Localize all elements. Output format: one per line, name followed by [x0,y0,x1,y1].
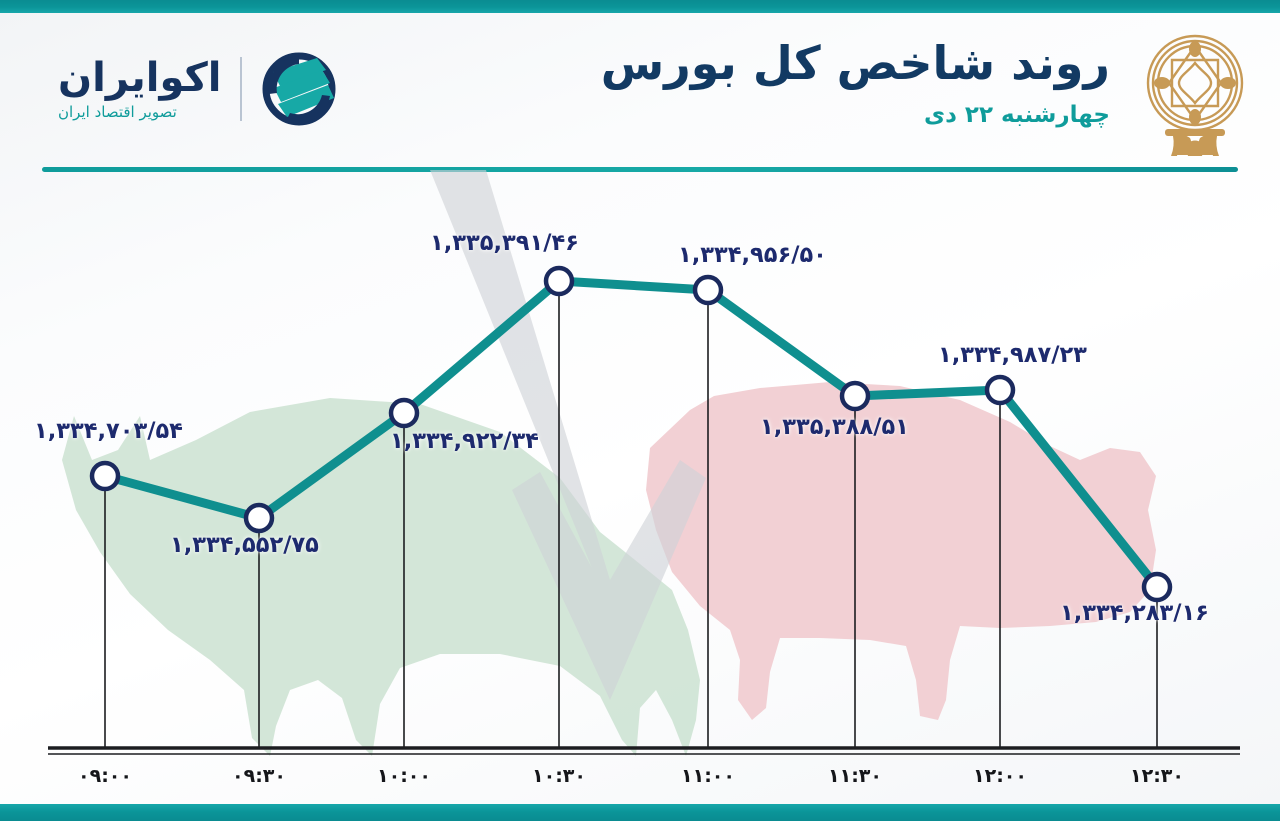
line-chart: ۱,۳۳۴,۷۰۳/۵۴ ۱,۳۳۴,۵۵۲/۷۵ ۱,۳۳۴,۹۲۲/۳۴ ۱… [0,160,1280,805]
brand-name: اکوایران [58,58,222,98]
data-point-marker[interactable] [546,268,572,294]
x-tick: ۱۰:۳۰ [532,765,586,787]
brand-logo[interactable]: اکوایران تصویر اقتصاد ایران [58,43,358,135]
x-axis [48,748,1240,754]
title-block: روند شاخص کل بورس چهارشنبه ۲۲ دی [510,37,1110,128]
data-point-marker[interactable] [92,463,118,489]
brand-logo-text: اکوایران تصویر اقتصاد ایران [58,58,222,120]
x-tick: ۱۱:۳۰ [828,765,882,787]
infographic-canvas: اکوایران تصویر اقتصاد ایران روند شاخص کل… [0,0,1280,821]
data-point-marker[interactable] [246,505,272,531]
x-tick: ۱۱:۰۰ [681,765,735,787]
x-tick: ۱۲:۳۰ [1130,765,1184,787]
chart-svg [0,160,1280,805]
page-title: روند شاخص کل بورس [510,37,1110,90]
page-date: چهارشنبه ۲۲ دی [510,102,1110,128]
data-point-label: ۱,۳۳۴,۲۸۳/۱۶ [1060,600,1209,626]
bottom-accent-bar [0,804,1280,821]
logo-divider [240,57,242,121]
data-point-label: ۱,۳۳۴,۹۸۷/۲۳ [938,342,1087,368]
tehran-stock-exchange-emblem-icon [1132,25,1258,165]
data-point-label: ۱,۳۳۵,۳۸۸/۵۱ [760,414,909,440]
data-point-label: ۱,۳۳۴,۷۰۳/۵۴ [34,418,183,444]
brand-tagline: تصویر اقتصاد ایران [58,105,177,120]
data-point-label: ۱,۳۳۴,۵۵۲/۷۵ [170,532,319,558]
data-point-marker[interactable] [842,383,868,409]
eco-iran-swoosh-logo-icon [260,50,338,128]
data-point-marker[interactable] [987,377,1013,403]
top-accent-bar [0,0,1280,13]
x-tick: ۰۹:۰۰ [78,765,132,787]
x-tick: ۰۹:۳۰ [232,765,286,787]
header: اکوایران تصویر اقتصاد ایران روند شاخص کل… [0,13,1280,157]
data-point-label: ۱,۳۳۴,۹۲۲/۳۴ [390,428,539,454]
data-point-label: ۱,۳۳۵,۳۹۱/۴۶ [430,230,579,256]
data-point-marker[interactable] [695,277,721,303]
data-point-marker[interactable] [1144,574,1170,600]
data-point-marker[interactable] [391,400,417,426]
x-tick: ۱۲:۰۰ [973,765,1027,787]
background-silhouettes [62,170,1156,756]
x-tick: ۱۰:۰۰ [377,765,431,787]
data-point-label: ۱,۳۳۴,۹۵۶/۵۰ [678,242,827,268]
